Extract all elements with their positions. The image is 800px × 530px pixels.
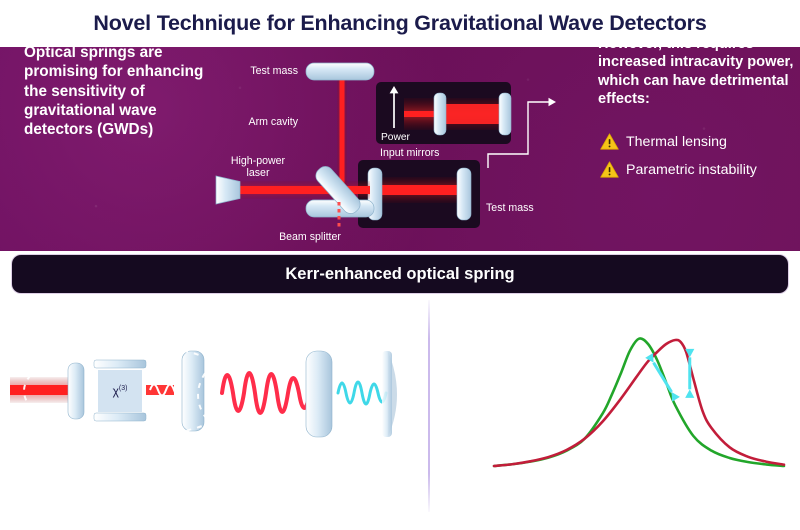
fabry-perot-heading: Fabry-Perot cavity: [120, 305, 350, 321]
infographic-poster: Novel Technique for Enhancing Gravitatio…: [0, 0, 800, 530]
power-inset-mirror-2: [499, 93, 511, 135]
y-tick-label: 1: [484, 335, 489, 346]
list-item: Parametric instability: [600, 161, 800, 178]
cavity-mirror-right: [182, 351, 204, 431]
test-mass-mirror-top: [306, 63, 374, 80]
optical-spring-red: [222, 373, 310, 413]
spring-caption: Optical & mechanical spring: [240, 473, 420, 503]
annotation-linear-system: Linearsystem: [550, 372, 583, 396]
chart-x-ticks: -4 -2 0 2 4: [490, 467, 788, 489]
chart-axes: [494, 332, 784, 472]
y-tick-label: 0: [484, 468, 489, 479]
bistability-arrow-slanted-shaft: [654, 363, 672, 392]
series-line-linear-system: [494, 338, 784, 466]
label-input-mirrors: Input mirrors: [380, 147, 439, 159]
test-mass-mirror-right: [457, 168, 471, 220]
interferometer-diagram: Power Test mass Arm cavity High-powerlas…: [198, 50, 598, 250]
caveat-statement: However, this requires increased intraca…: [598, 35, 794, 109]
y-tick-label: 0.5: [476, 398, 489, 409]
cavity-mirror-left: [68, 363, 84, 419]
fabry-perot-diagram: χ(3) Kopt Km: [10, 325, 430, 485]
page-title: Novel Technique for Enhancing Gravitatio…: [93, 11, 706, 36]
label-test-mass-top: Test mass: [250, 65, 298, 77]
bistability-arrow-vertical-head-1: [685, 389, 694, 398]
label-high-power-laser: High-powerlaser: [231, 155, 286, 179]
laser-source: [216, 176, 240, 204]
chart-y-ticks: 0 0.5 1: [476, 335, 499, 479]
anchor-mirror: [382, 351, 392, 437]
power-label: Power: [381, 132, 410, 143]
x-tick-label: -4: [490, 478, 499, 489]
chart-ylabel: Radiation pressure force: [441, 334, 455, 469]
x-tick-label: 0: [636, 478, 641, 489]
banner-title: Kerr-enhanced optical spring: [285, 265, 514, 284]
warning-icon: [600, 161, 619, 178]
magnified-mirror: [306, 351, 332, 437]
series-line-kerr-system: [494, 340, 784, 466]
mechanical-spring-cyan: [338, 382, 386, 404]
cavity-spectra-heading: Cavity spectra: [500, 303, 720, 319]
x-tick-label: 2: [709, 478, 714, 489]
effect-label: Thermal lensing: [626, 134, 727, 150]
zoom-connector-arrow: [549, 98, 557, 107]
section-banner: Kerr-enhanced optical spring: [12, 255, 788, 293]
kerr-medium-bottom-plate: [94, 413, 146, 421]
effect-label: Parametric instability: [626, 162, 757, 178]
chart-svg: 0 0.5 1 -4 -2 0 2 4: [436, 322, 794, 518]
detrimental-effects-list: Thermal lensing Parametric instability: [600, 133, 800, 189]
list-item: Thermal lensing: [600, 133, 800, 150]
power-beam-in: [404, 111, 438, 117]
label-test-mass-right: Test mass: [486, 202, 534, 214]
x-tick-label: 4: [781, 478, 787, 489]
label-k-opt: Kopt: [247, 418, 268, 434]
lead-statement: Optical springs are promising for enhanc…: [24, 43, 204, 139]
x-tick-label: -2: [562, 478, 571, 489]
annotation-kerr-system: Kerrsystem: [725, 372, 758, 396]
cavity-beam: [374, 185, 466, 195]
kerr-medium-top-plate: [94, 360, 146, 368]
chart-xlabel: Mirror displacement: [585, 496, 694, 510]
label-k-m: Km: [350, 418, 366, 434]
label-beam-splitter: Beam splitter: [279, 231, 341, 243]
kerr-medium-caption: Kerr medium: [48, 432, 168, 446]
cavity-spectra-chart: 0 0.5 1 -4 -2 0 2 4: [436, 322, 794, 518]
warning-icon: [600, 133, 619, 150]
power-inset-mirror: [434, 93, 446, 135]
label-arm-cavity: Arm cavity: [249, 116, 299, 128]
